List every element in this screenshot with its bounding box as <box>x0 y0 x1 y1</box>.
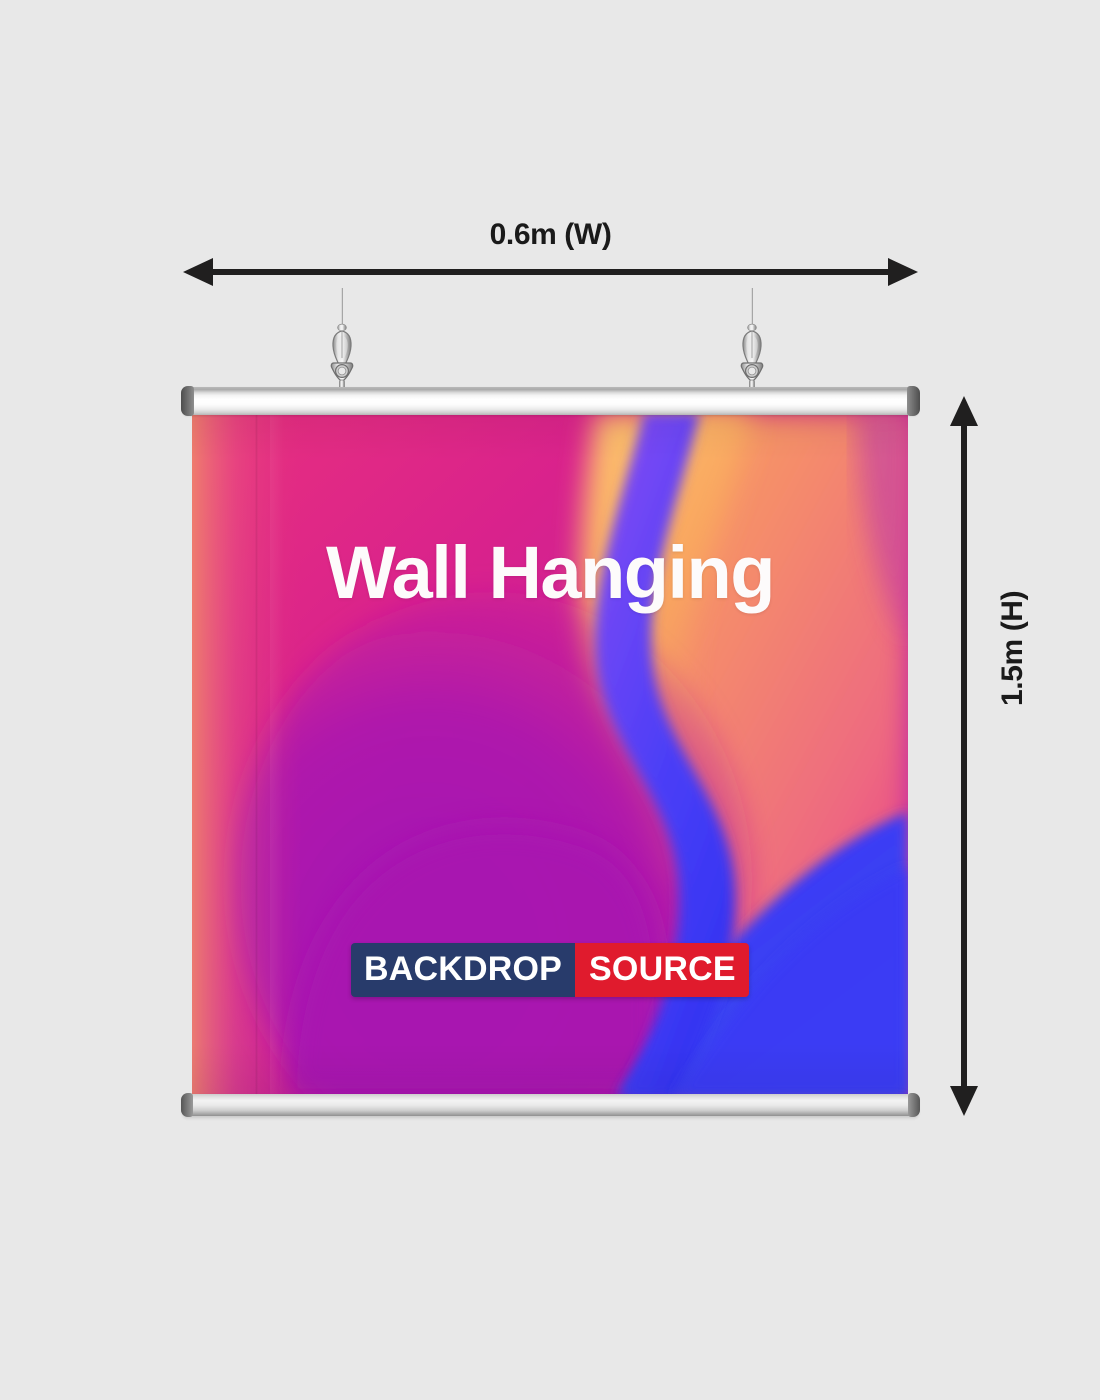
swivel-snap-hook-icon <box>325 288 359 396</box>
arrow-head-down-icon <box>950 1086 978 1116</box>
bottom-rail-end-cap-left <box>181 1093 193 1117</box>
swivel-snap-hook-icon <box>735 288 769 396</box>
bottom-rail-end-cap-right <box>908 1093 920 1117</box>
mockup-stage: 0.6m (W) 1.5m (H) <box>0 0 1100 1400</box>
top-rail-end-cap-left <box>181 386 194 416</box>
arrow-head-left-icon <box>183 258 213 286</box>
height-dimension-label: 1.5m (H) <box>996 591 1030 706</box>
brand-logo-primary: BACKDROP <box>351 943 575 997</box>
width-dimension-label: 0.6m (W) <box>183 218 918 252</box>
hanging-hardware-left <box>325 288 359 396</box>
brand-logo-badge: BACKDROP SOURCE <box>351 943 749 997</box>
top-rail-end-cap-right <box>907 386 920 416</box>
banner-headline: Wall Hanging <box>192 536 908 610</box>
hanging-hardware-right <box>735 288 769 396</box>
height-dimension-arrow: 1.5m (H) <box>950 396 978 1116</box>
width-dimension-arrow: 0.6m (W) <box>183 258 918 286</box>
arrow-head-right-icon <box>888 258 918 286</box>
banner-panel: Wall Hanging BACKDROP SOURCE <box>192 412 908 1097</box>
arrow-shaft-vertical <box>961 422 967 1090</box>
brand-logo-secondary: SOURCE <box>575 943 749 997</box>
arrow-shaft-horizontal <box>211 269 890 275</box>
top-rail <box>183 387 918 415</box>
bottom-rail <box>183 1094 918 1116</box>
